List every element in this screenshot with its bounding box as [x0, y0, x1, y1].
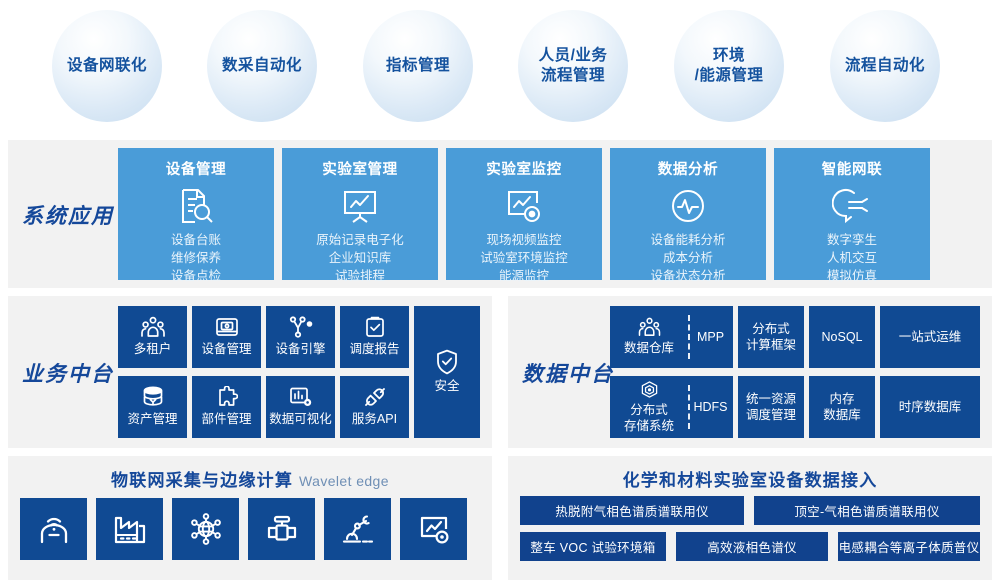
asset-database-icon	[141, 386, 165, 408]
business-tile-component-management[interactable]: 部件管理	[192, 376, 261, 438]
data-viz-icon	[289, 386, 313, 408]
system-card-lines: 设备能耗分析 成本分析 设备状态分析	[650, 232, 725, 285]
business-tile-label: 部件管理	[201, 411, 251, 427]
data-subcell-mpp[interactable]: MPP	[688, 306, 733, 368]
data-platform-band: 数据中台 数据仓库 MPP	[508, 296, 992, 448]
chem-chip-label: 热脱附气相色谱质谱联用仪	[555, 501, 709, 520]
system-card-lines: 设备台账 维修保养 设备点检	[171, 232, 221, 285]
data-subcell-warehouse[interactable]: 数据仓库	[610, 306, 688, 368]
system-card-lab-monitoring[interactable]: 实验室监控 现场视频监控 试验室环境监控 能源监控	[446, 148, 602, 280]
api-plug-icon	[363, 386, 387, 408]
business-tile-label: 数据可视化	[269, 411, 332, 427]
iot-edge-subtitle: Wavelet edge	[299, 473, 389, 489]
iot-edge-header: 物联网采集与边缘计算Wavelet edge	[8, 466, 492, 491]
presentation-chart-icon	[340, 186, 380, 226]
device-box-icon	[215, 316, 239, 338]
chem-chip-icp-ms[interactable]: 电感耦合等离子体质普仪	[838, 532, 980, 561]
document-search-icon	[176, 186, 216, 226]
business-tile-label: 调度报告	[349, 341, 399, 357]
sensor-valve-icon	[265, 513, 299, 545]
data-tile-distributed-compute[interactable]: 分布式 计算框架	[738, 306, 804, 368]
data-tile-label: 时序数据库	[899, 399, 962, 415]
business-tile-service-api[interactable]: 服务API	[340, 376, 409, 438]
business-tile-label: 服务API	[352, 411, 397, 427]
business-tile-data-visualization[interactable]: 数据可视化	[266, 376, 335, 438]
data-tile-warehouse-mpp[interactable]: 数据仓库 MPP	[610, 306, 733, 368]
architecture-diagram: 设备网联化 数采自动化 指标管理 人员/业务 流程管理 环境 /能源管理 流程自…	[0, 0, 1000, 588]
business-tile-label: 资产管理	[127, 411, 177, 427]
system-card-title: 智能网联	[822, 158, 882, 179]
data-tile-label: 分布式 存储系统	[624, 402, 674, 435]
system-application-band: 系统应用 设备管理 设备台账 维修保养 设备点检 实验室管理	[8, 140, 992, 288]
capability-bubble-label: 设备网联化	[67, 56, 147, 76]
robot-arm-icon	[341, 513, 375, 545]
data-tile-one-stop-ops[interactable]: 一站式运维	[880, 306, 980, 368]
iot-cell-iot-network[interactable]	[172, 498, 239, 560]
chem-chip-label: 顶空-气相色谱质谱联用仪	[794, 501, 939, 520]
system-card-lab-management[interactable]: 实验室管理 原始记录电子化 企业知识库 试验排程	[282, 148, 438, 280]
data-warehouse-icon	[638, 317, 661, 337]
shield-check-icon	[435, 349, 459, 375]
iot-cell-monitor-chart[interactable]	[400, 498, 467, 560]
data-tile-label: 内存 数据库	[823, 391, 861, 424]
monitor-eye-icon	[504, 186, 544, 226]
system-card-device-management[interactable]: 设备管理 设备台账 维修保养 设备点检	[118, 148, 274, 280]
chem-chip-td-gcms[interactable]: 热脱附气相色谱质谱联用仪	[520, 496, 744, 525]
chem-chip-label: 电感耦合等离子体质普仪	[839, 537, 980, 556]
business-tile-device-management[interactable]: 设备管理	[192, 306, 261, 368]
business-tile-label: 多租户	[134, 341, 172, 357]
data-platform-tiles: 数据仓库 MPP 分布式 计算框架 NoSQL 一站式运维	[508, 296, 992, 448]
system-card-lines: 现场视频监控 试验室环境监控 能源监控	[480, 232, 568, 285]
data-tile-label: HDFS	[693, 399, 727, 415]
data-tile-nosql[interactable]: NoSQL	[809, 306, 875, 368]
chem-lab-chips: 热脱附气相色谱质谱联用仪 顶空-气相色谱质谱联用仪 整车 VOC 试验环境箱 高…	[520, 496, 980, 568]
iot-edge-band: 物联网采集与边缘计算Wavelet edge	[8, 456, 492, 580]
factory-icon	[113, 513, 147, 545]
data-tile-label: 分布式 计算框架	[746, 321, 796, 354]
system-card-data-analysis[interactable]: 数据分析 设备能耗分析 成本分析 设备状态分析	[610, 148, 766, 280]
chem-chip-label: 整车 VOC 试验环境箱	[530, 537, 655, 556]
system-application-cards: 设备管理 设备台账 维修保养 设备点检 实验室管理	[118, 148, 930, 280]
data-tile-label: 数据仓库	[624, 340, 674, 356]
capability-bubbles-row: 设备网联化 数采自动化 指标管理 人员/业务 流程管理 环境 /能源管理 流程自…	[0, 0, 1000, 132]
chem-lab-header: 化学和材料实验室设备数据接入	[508, 466, 992, 491]
iot-icon-row	[20, 498, 467, 560]
data-tile-timeseries-db[interactable]: 时序数据库	[880, 376, 980, 438]
puzzle-piece-icon	[216, 386, 238, 408]
capability-bubble-2[interactable]: 指标管理	[363, 10, 473, 122]
data-tile-label: 统一资源 调度管理	[746, 391, 796, 424]
pulse-circle-icon	[668, 186, 708, 226]
data-tile-label: 一站式运维	[899, 329, 962, 345]
data-subcell-hdfs[interactable]: HDFS	[688, 376, 733, 438]
business-tile-schedule-report[interactable]: 调度报告	[340, 306, 409, 368]
system-application-label: 系统应用	[22, 200, 114, 230]
wifi-gateway-icon	[37, 513, 71, 545]
iot-cell-factory[interactable]	[96, 498, 163, 560]
iot-network-globe-icon	[189, 513, 223, 545]
chem-lab-row-2: 整车 VOC 试验环境箱 高效液相色谱仪 电感耦合等离子体质普仪	[520, 532, 980, 561]
iot-cell-robot-arm[interactable]	[324, 498, 391, 560]
system-card-title: 设备管理	[166, 158, 226, 179]
data-tile-label: NoSQL	[822, 329, 863, 345]
business-platform-tiles: 多租户 设备管理	[8, 296, 492, 448]
chem-lab-row-1: 热脱附气相色谱质谱联用仪 顶空-气相色谱质谱联用仪	[520, 496, 980, 525]
monitor-chart-icon	[417, 513, 451, 545]
chem-lab-band: 化学和材料实验室设备数据接入 热脱附气相色谱质谱联用仪 顶空-气相色谱质谱联用仪…	[508, 456, 992, 580]
business-platform-band: 业务中台 多租户	[8, 296, 492, 448]
data-tile-storage-hdfs[interactable]: 分布式 存储系统 HDFS	[610, 376, 733, 438]
capability-bubble-label: 环境 /能源管理	[695, 46, 764, 87]
capability-bubble-3[interactable]: 人员/业务 流程管理	[518, 10, 628, 122]
capability-bubble-5[interactable]: 流程自动化	[830, 10, 940, 122]
iot-cell-sensor-valve[interactable]	[248, 498, 315, 560]
system-card-lines: 原始记录电子化 企业知识库 试验排程	[316, 232, 404, 285]
business-tile-multi-tenant[interactable]: 多租户	[118, 306, 187, 368]
data-tile-unified-resource-scheduling[interactable]: 统一资源 调度管理	[738, 376, 804, 438]
business-tile-label: 设备管理	[201, 341, 251, 357]
business-tile-asset-management[interactable]: 资产管理	[118, 376, 187, 438]
system-card-title: 数据分析	[658, 158, 718, 179]
system-card-lines: 数字孪生 人机交互 模拟仿真	[827, 232, 877, 285]
data-subcell-distributed-storage[interactable]: 分布式 存储系统	[610, 376, 688, 438]
business-tile-label: 安全	[434, 378, 459, 394]
system-card-intelligent-network[interactable]: 智能网联 数字孪生 人机交互 模拟仿真	[774, 148, 930, 280]
chem-chip-hplc[interactable]: 高效液相色谱仪	[676, 532, 828, 561]
engine-node-icon	[289, 316, 313, 338]
capability-bubble-4[interactable]: 环境 /能源管理	[674, 10, 784, 122]
business-tile-device-engine[interactable]: 设备引擎	[266, 306, 335, 368]
business-tile-label: 设备引擎	[275, 341, 325, 357]
capability-bubble-label: 流程自动化	[845, 56, 925, 76]
data-tile-label: MPP	[697, 329, 724, 345]
iot-cell-wifi-gateway[interactable]	[20, 498, 87, 560]
capability-bubble-label: 指标管理	[386, 56, 450, 76]
chem-chip-hs-gcms[interactable]: 顶空-气相色谱质谱联用仪	[754, 496, 980, 525]
iot-edge-title: 物联网采集与边缘计算	[111, 471, 293, 490]
ai-head-icon	[832, 186, 872, 226]
multi-tenant-icon	[141, 316, 165, 338]
capability-bubble-label: 数采自动化	[222, 56, 302, 76]
chem-chip-voc-chamber[interactable]: 整车 VOC 试验环境箱	[520, 532, 666, 561]
capability-bubble-1[interactable]: 数采自动化	[207, 10, 317, 122]
clipboard-check-icon	[364, 316, 386, 338]
chem-lab-title: 化学和材料实验室设备数据接入	[623, 471, 878, 490]
capability-bubble-0[interactable]: 设备网联化	[52, 10, 162, 122]
distributed-storage-icon	[639, 380, 660, 399]
capability-bubble-label: 人员/业务 流程管理	[539, 46, 608, 87]
data-tile-in-memory-db[interactable]: 内存 数据库	[809, 376, 875, 438]
chem-chip-label: 高效液相色谱仪	[707, 537, 797, 556]
system-card-title: 实验室管理	[322, 158, 398, 179]
system-card-title: 实验室监控	[486, 158, 562, 179]
business-tile-security[interactable]: 安全	[414, 306, 480, 438]
